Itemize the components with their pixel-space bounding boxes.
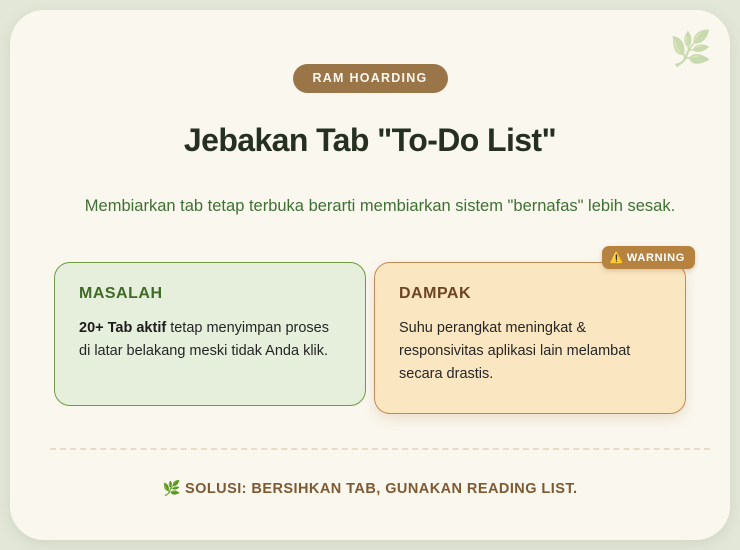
kicker-badge: RAM HOARDING bbox=[293, 64, 448, 93]
footer-note: 🌿SOLUSI: BERSIHKAN TAB, GUNAKAN READING … bbox=[10, 480, 730, 497]
problem-card-heading: MASALAH bbox=[79, 285, 341, 303]
infographic-card: 🌿 RAM HOARDING Jebakan Tab "To-Do List" … bbox=[10, 10, 730, 540]
herb-leaf-icon: 🌿 bbox=[162, 481, 181, 497]
problem-card-body: 20+ Tab aktif tetap menyimpan proses di … bbox=[79, 317, 341, 363]
section-divider bbox=[50, 448, 710, 450]
impact-card-text: Suhu perangkat meningkat & responsivitas… bbox=[399, 320, 630, 382]
warning-badge: ⚠️WARNING bbox=[602, 246, 695, 269]
warning-triangle-icon: ⚠️ bbox=[610, 252, 624, 264]
impact-card: ⚠️WARNING DAMPAK Suhu perangkat meningka… bbox=[374, 262, 686, 414]
leaf-decoration-icon: 🌿 bbox=[670, 32, 712, 66]
impact-card-body: Suhu perangkat meningkat & responsivitas… bbox=[399, 317, 661, 386]
page-title: Jebakan Tab "To-Do List" bbox=[10, 122, 730, 159]
problem-card: MASALAH 20+ Tab aktif tetap menyimpan pr… bbox=[54, 262, 366, 406]
footer-note-text: SOLUSI: BERSIHKAN TAB, GUNAKAN READING L… bbox=[185, 481, 578, 497]
problem-card-emphasis: 20+ Tab aktif bbox=[79, 320, 166, 336]
page-subtitle: Membiarkan tab tetap terbuka berarti mem… bbox=[70, 194, 690, 219]
kicker-row: RAM HOARDING bbox=[10, 64, 730, 93]
cards-row: MASALAH 20+ Tab aktif tetap menyimpan pr… bbox=[54, 262, 686, 414]
impact-card-heading: DAMPAK bbox=[399, 285, 661, 303]
warning-badge-label: WARNING bbox=[627, 252, 685, 264]
